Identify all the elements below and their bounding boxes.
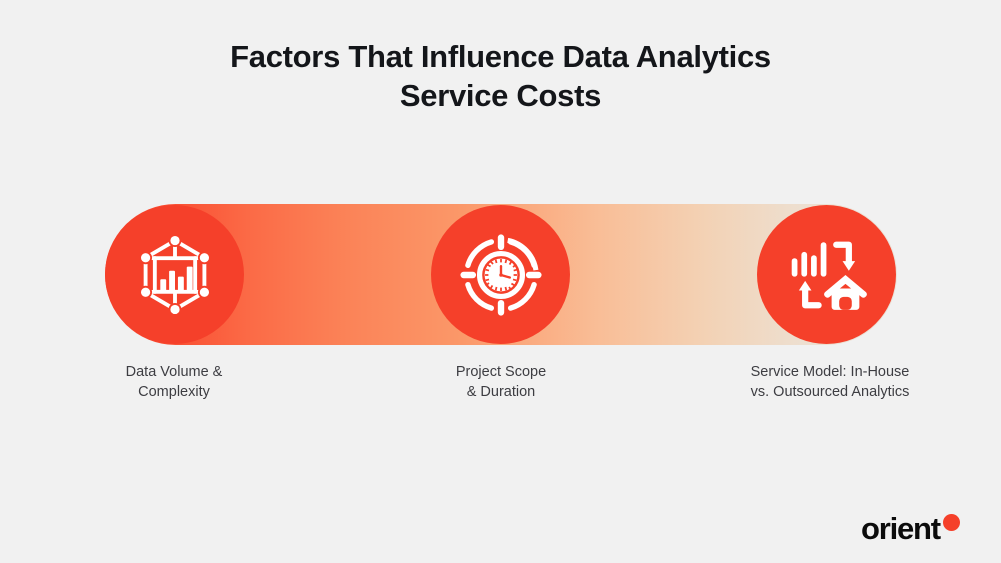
- brand-logo-dot-icon: [943, 514, 960, 531]
- caption-line: Complexity: [69, 382, 279, 402]
- page-title: Factors That Influence Data Analytics Se…: [0, 38, 1001, 116]
- bar-chart-house-exchange-arrows-icon: [785, 233, 869, 317]
- caption-line: & Duration: [396, 382, 606, 402]
- infographic-step-project-scope[interactable]: [431, 204, 571, 345]
- caption-line: Service Model: In-House: [690, 362, 970, 382]
- caption-line: Data Volume &: [69, 362, 279, 382]
- step-caption-data-volume: Data Volume & Complexity: [69, 362, 279, 402]
- caption-line: Project Scope: [396, 362, 606, 382]
- step-caption-service-model: Service Model: In-House vs. Outsourced A…: [690, 362, 970, 402]
- brand-logo-wordmark: orient: [861, 513, 940, 544]
- step-icon-circle: [105, 205, 244, 344]
- page-title-line-2: Service Costs: [0, 77, 1001, 116]
- caption-line: vs. Outsourced Analytics: [690, 382, 970, 402]
- target-clock-icon: [459, 233, 543, 317]
- infographic-band: [105, 204, 897, 345]
- page-title-line-1: Factors That Influence Data Analytics: [0, 38, 1001, 77]
- hexagon-network-bar-chart-icon: [133, 233, 217, 317]
- infographic-step-data-volume[interactable]: [105, 204, 245, 345]
- step-icon-circle: [757, 205, 896, 344]
- brand-logo[interactable]: orient: [861, 513, 960, 544]
- step-caption-project-scope: Project Scope & Duration: [396, 362, 606, 402]
- step-icon-circle: [431, 205, 570, 344]
- infographic-step-service-model[interactable]: [757, 204, 897, 345]
